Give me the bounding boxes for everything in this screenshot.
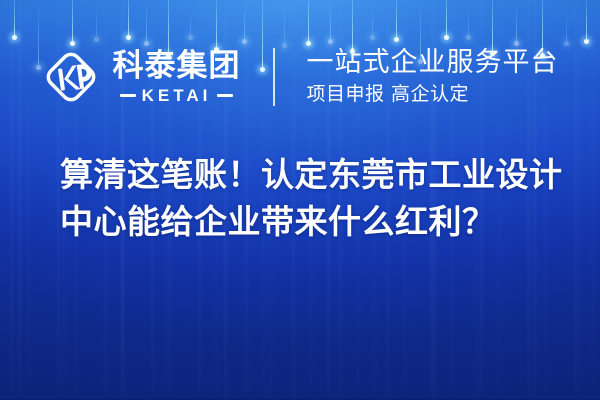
promo-banner: 科泰集团 KETAI 一站式企业服务平台 项目申报 高企认定 算清这笔账！认定东… bbox=[0, 0, 600, 400]
background-vignette bbox=[0, 0, 600, 400]
bottom-edge-band bbox=[0, 396, 600, 400]
